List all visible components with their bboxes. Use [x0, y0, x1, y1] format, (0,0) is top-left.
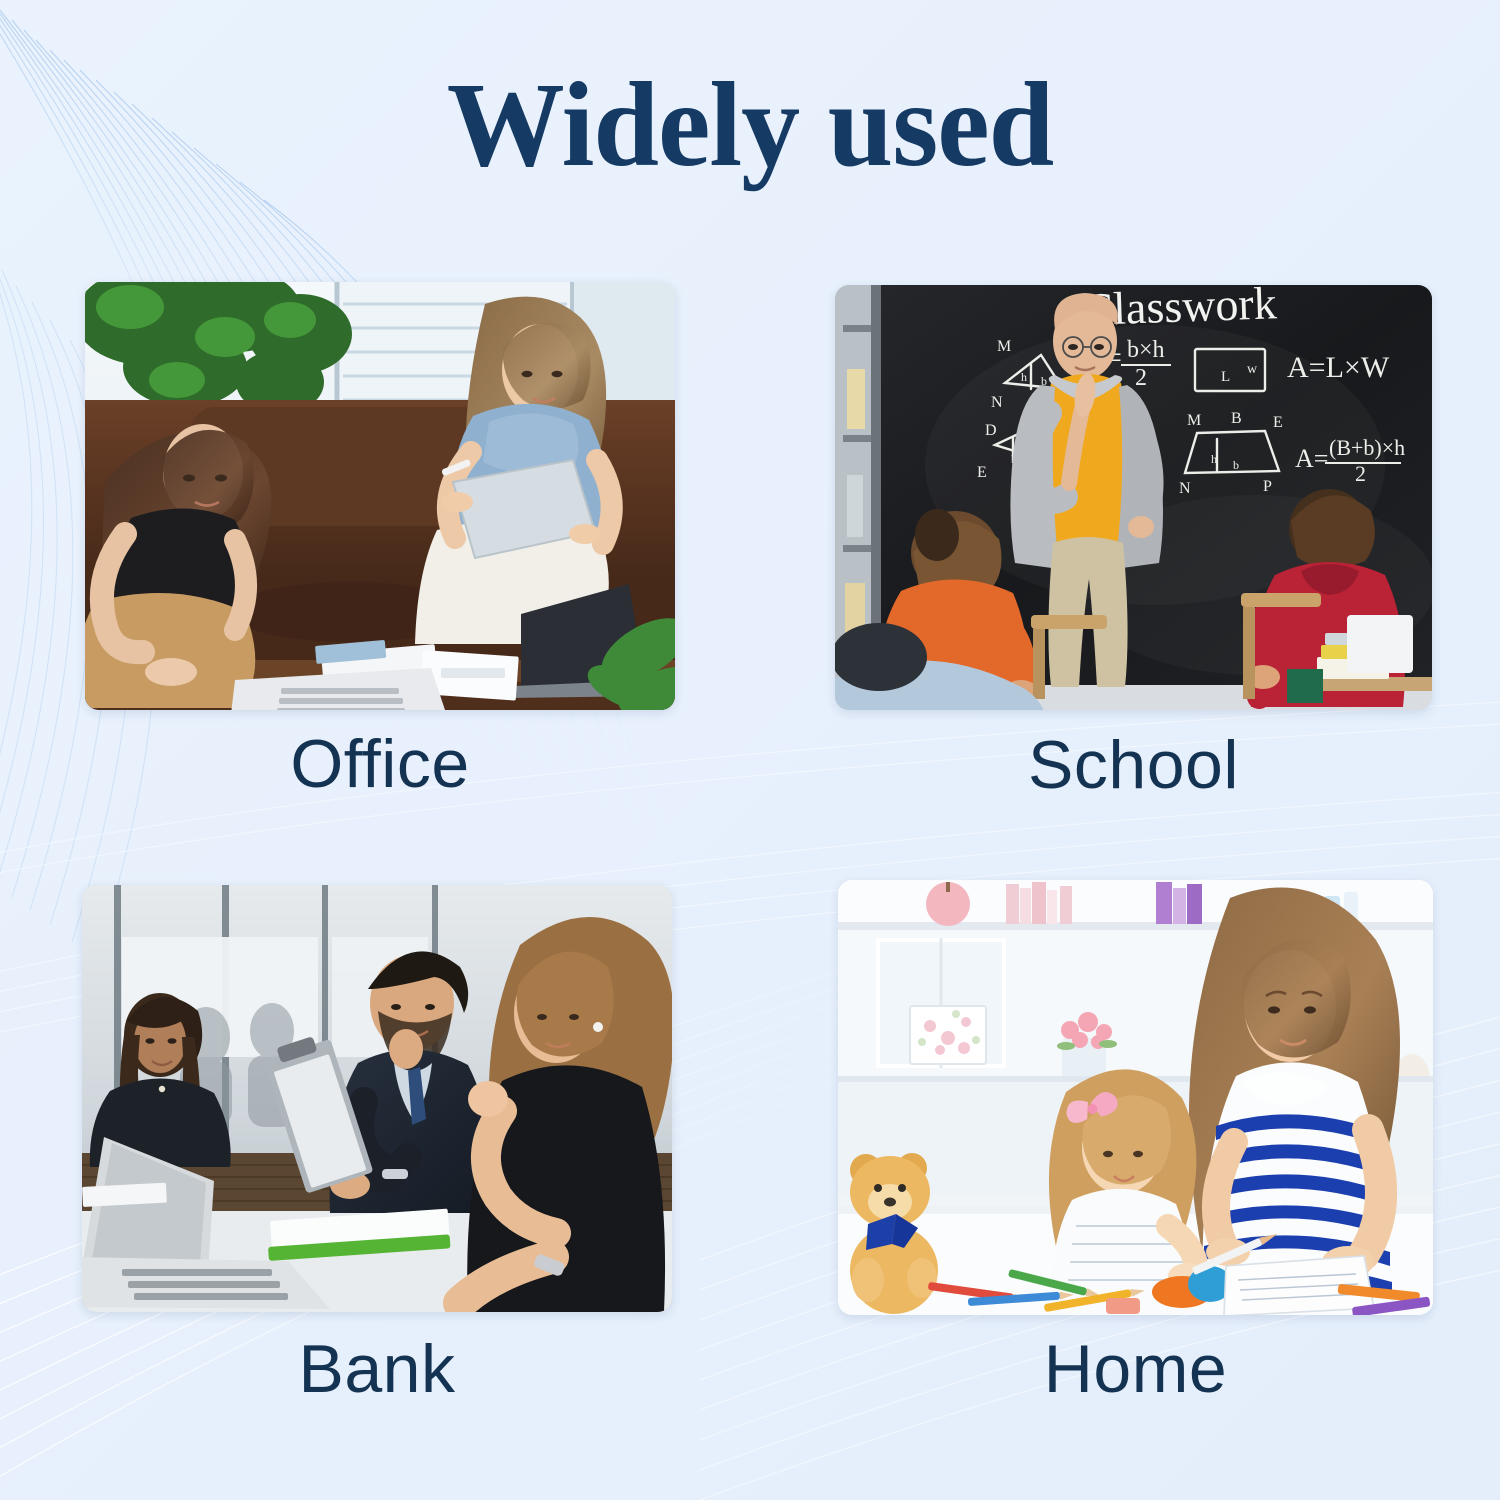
office-scene-illustration	[85, 282, 675, 710]
svg-text:A=L×W: A=L×W	[1287, 351, 1390, 384]
use-case-card-office[interactable]: Office	[85, 282, 675, 710]
home-photo[interactable]	[838, 880, 1433, 1315]
svg-text:N: N	[1179, 480, 1191, 497]
svg-text:N: N	[991, 394, 1003, 411]
svg-text:M: M	[997, 338, 1011, 355]
svg-text:w: w	[1247, 362, 1258, 377]
svg-text:P: P	[1263, 478, 1272, 495]
bank-scene-illustration	[82, 885, 672, 1312]
school-scene-illustration: Classwork	[835, 285, 1432, 710]
use-case-card-bank[interactable]: Bank	[82, 885, 672, 1312]
use-case-label-home: Home	[838, 1335, 1433, 1403]
svg-text:(B+b)×h: (B+b)×h	[1329, 435, 1405, 460]
svg-text:b×h: b×h	[1127, 337, 1165, 363]
svg-text:D: D	[985, 422, 997, 439]
svg-text:B: B	[1231, 410, 1242, 427]
use-case-label-bank: Bank	[82, 1335, 672, 1403]
svg-text:h: h	[1211, 452, 1217, 466]
svg-text:h: h	[1021, 370, 1027, 384]
svg-text:A=: A=	[1295, 444, 1328, 473]
svg-text:b: b	[1233, 458, 1239, 472]
use-case-card-school[interactable]: Classwork	[835, 285, 1432, 710]
use-case-card-home[interactable]: Home	[838, 880, 1433, 1315]
svg-text:L: L	[1221, 369, 1230, 385]
svg-text:2: 2	[1135, 365, 1147, 391]
svg-text:2: 2	[1355, 461, 1366, 486]
page-title: Widely used	[447, 61, 1053, 189]
svg-text:M: M	[1187, 412, 1201, 429]
page-title-container: Widely used	[0, 62, 1500, 187]
use-case-label-school: School	[835, 731, 1432, 799]
use-case-label-office: Office	[85, 730, 675, 798]
bank-photo[interactable]	[82, 885, 672, 1312]
svg-text:E: E	[977, 464, 987, 481]
use-case-grid: Office	[0, 0, 1500, 1500]
school-photo[interactable]: Classwork	[835, 285, 1432, 710]
office-photo[interactable]	[85, 282, 675, 710]
home-scene-illustration	[838, 880, 1433, 1315]
svg-text:E: E	[1273, 414, 1283, 431]
